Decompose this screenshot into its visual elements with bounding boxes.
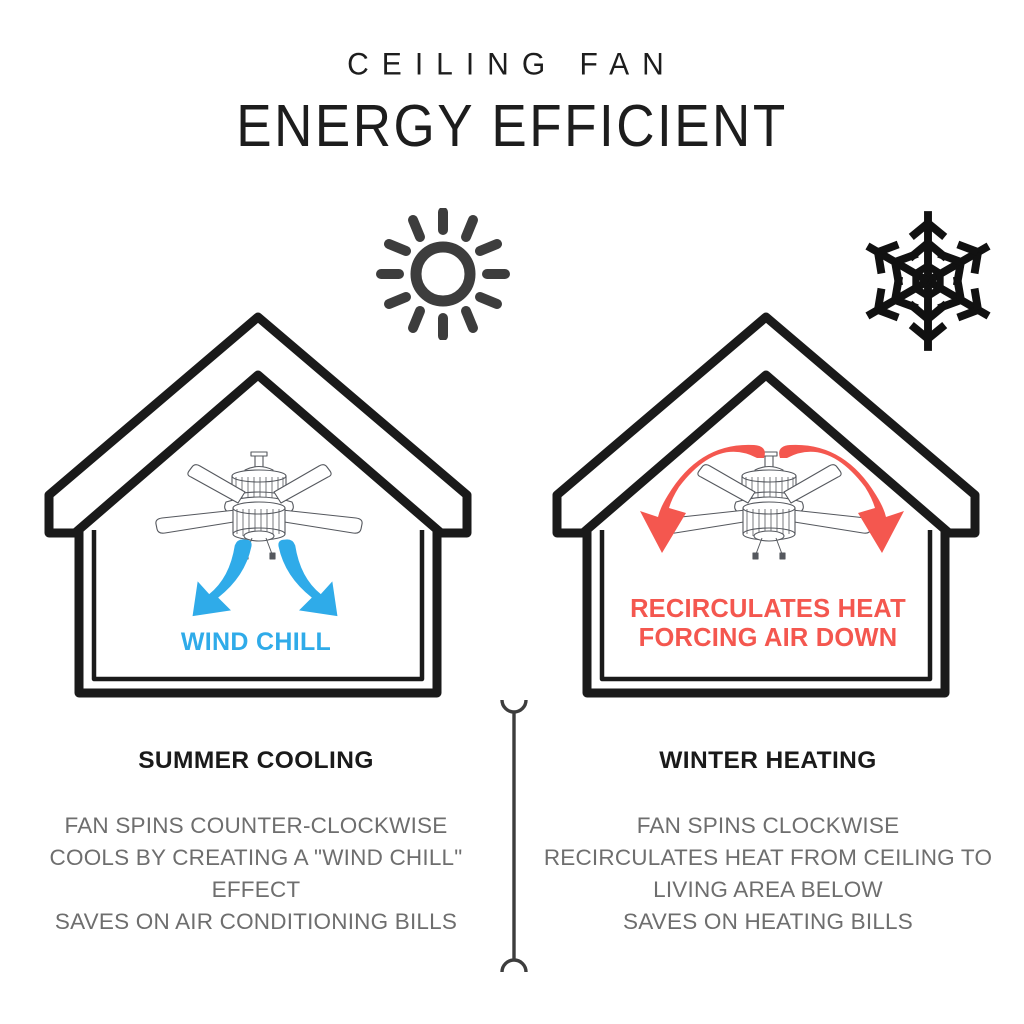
caption-line: EFFECT — [0, 874, 512, 906]
caption-body-winter: FAN SPINS CLOCKWISE RECIRCULATES HEAT FR… — [512, 810, 1024, 938]
divider-cup-top — [502, 700, 526, 712]
infographic-root: CEILING FAN ENERGY EFFICIENT — [0, 0, 1024, 1024]
vertical-divider-icon — [496, 694, 532, 978]
arrow-down-left — [640, 445, 765, 553]
panel-winter-heating: RECIRCULATES HEAT FORCING AIR DOWN WINTE… — [512, 0, 1024, 1024]
caption-line: RECIRCULATES HEAT FROM CEILING TO — [512, 842, 1024, 874]
caption-title-summer: SUMMER COOLING — [0, 747, 512, 775]
caption-line: COOLS BY CREATING A "WIND CHILL" — [0, 842, 512, 874]
airflow-arrows-down-recirculate-icon — [612, 444, 932, 564]
caption-line: FAN SPINS COUNTER-CLOCKWISE — [0, 810, 512, 842]
inhouse-label-line: WIND CHILL — [0, 628, 512, 657]
inhouse-label-winter: RECIRCULATES HEAT FORCING AIR DOWN — [512, 595, 1024, 654]
inhouse-label-summer: WIND CHILL — [0, 628, 512, 657]
caption-body-summer: FAN SPINS COUNTER-CLOCKWISE COOLS BY CRE… — [0, 810, 512, 938]
divider-cup-bottom — [502, 960, 526, 972]
caption-line: FAN SPINS CLOCKWISE — [512, 810, 1024, 842]
airflow-arrows-outward-down-icon — [150, 528, 380, 628]
panel-summer-cooling: WIND CHILL SUMMER COOLING FAN SPINS COUN… — [0, 0, 512, 1024]
caption-line: LIVING AREA BELOW — [512, 874, 1024, 906]
inhouse-label-line: RECIRCULATES HEAT — [512, 595, 1024, 624]
inhouse-label-line: FORCING AIR DOWN — [512, 624, 1024, 653]
caption-line: SAVES ON HEATING BILLS — [512, 906, 1024, 938]
arrow-down-right — [779, 445, 904, 553]
caption-line: SAVES ON AIR CONDITIONING BILLS — [0, 906, 512, 938]
caption-title-winter: WINTER HEATING — [512, 747, 1024, 775]
